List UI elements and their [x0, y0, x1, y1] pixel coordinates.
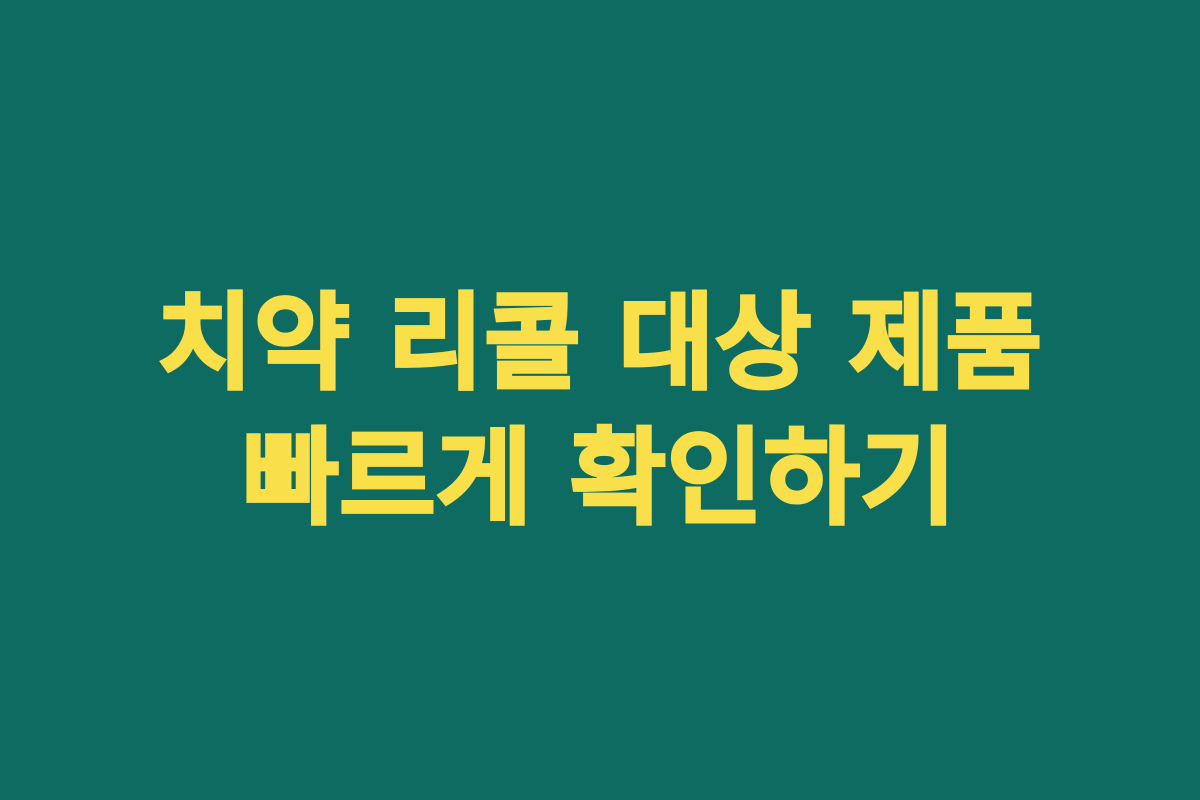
- thumbnail-canvas: 치약 리콜 대상 제품 빠르게 확인하기: [0, 0, 1200, 800]
- headline-title: 치약 리콜 대상 제품 빠르게 확인하기: [110, 276, 1090, 546]
- headline-block: 치약 리콜 대상 제품 빠르게 확인하기: [100, 276, 1100, 546]
